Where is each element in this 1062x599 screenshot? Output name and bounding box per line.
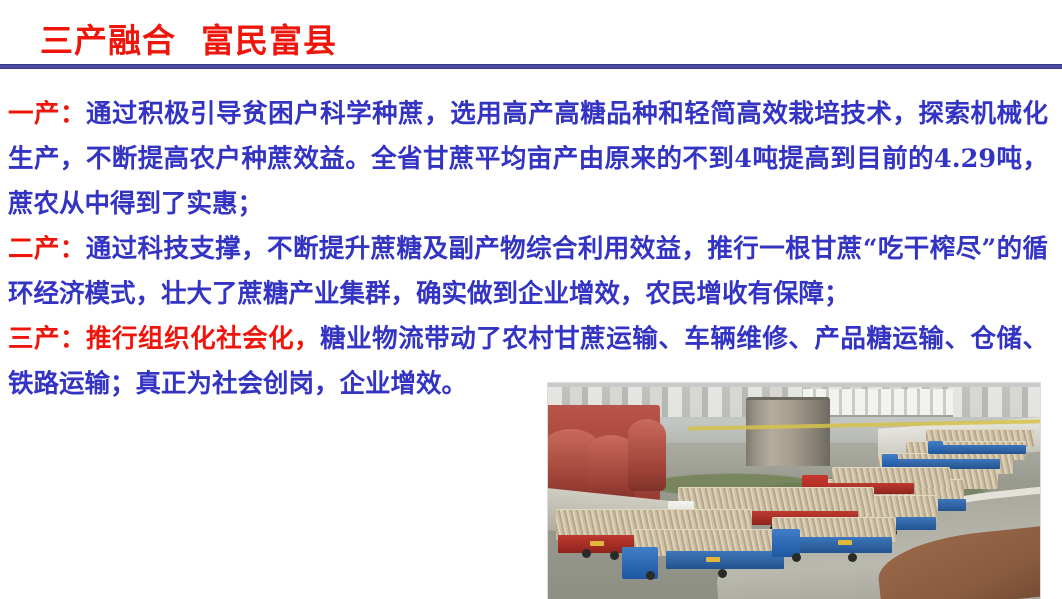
slide-header: 三产融合 富民富县 <box>0 0 1062 64</box>
photo-truck-wheel-left-2b <box>610 551 619 560</box>
photo-truck-cab-far-1 <box>928 441 943 454</box>
photo-storage-tank <box>746 397 830 466</box>
paragraph-primary-industry: 一产：通过积极引导贫困户科学种蔗，选用高产高糖品种和轻简高效栽培技术，探索机械化… <box>8 92 1048 227</box>
body-text-block: 一产：通过积极引导贫困户科学种蔗，选用高产高糖品种和轻简高效栽培技术，探索机械化… <box>8 92 1054 407</box>
header-divider <box>0 64 1062 70</box>
paragraph-3-lead: 三产：推行组织化社会化， <box>8 324 320 354</box>
sugar-mill-photo <box>548 383 1040 599</box>
paragraph-secondary-industry: 二产：通过科技支撑，不断提升蔗糖及副产物综合利用效益，推行一根甘蔗“吃干榨尽”的… <box>8 227 1048 317</box>
paragraph-1-lead: 一产： <box>8 99 86 129</box>
photo-frame <box>548 383 1040 599</box>
photo-license-plate-front-2 <box>838 540 852 545</box>
paragraph-1-text: 通过积极引导贫困户科学种蔗，选用高产高糖品种和轻简高效栽培技术，探索机械化生产，… <box>8 99 1048 219</box>
photo-truck-wheel-front-2a <box>792 553 801 562</box>
photo-truck-body-far-1 <box>940 445 1026 454</box>
photo-truck-wheel-front-1a <box>646 571 655 580</box>
photo-red-tank-3 <box>628 419 666 491</box>
page-title: 三产融合 富民富县 <box>40 14 337 62</box>
slide-canvas: 三产融合 富民富县 一产：通过积极引导贫困户科学种蔗，选用高产高糖品种和轻简高效… <box>0 0 1062 599</box>
photo-truck-wheel-front-2b <box>848 553 857 562</box>
photo-license-plate-left-2 <box>590 541 604 546</box>
divider-rule-thin <box>0 68 1062 69</box>
photo-truck-body-front-1 <box>666 551 784 569</box>
photo-truck-wheel-front-1b <box>718 569 727 578</box>
paragraph-2-text: 通过科技支撑，不断提升蔗糖及副产物综合利用效益，推行一根甘蔗“吃干榨尽”的循环经… <box>8 234 1048 309</box>
photo-license-plate-front-1 <box>706 557 720 562</box>
photo-truck-cab-far-2 <box>882 454 898 468</box>
paragraph-2-lead: 二产： <box>8 234 86 264</box>
photo-truck-wheel-left-2a <box>582 549 591 558</box>
